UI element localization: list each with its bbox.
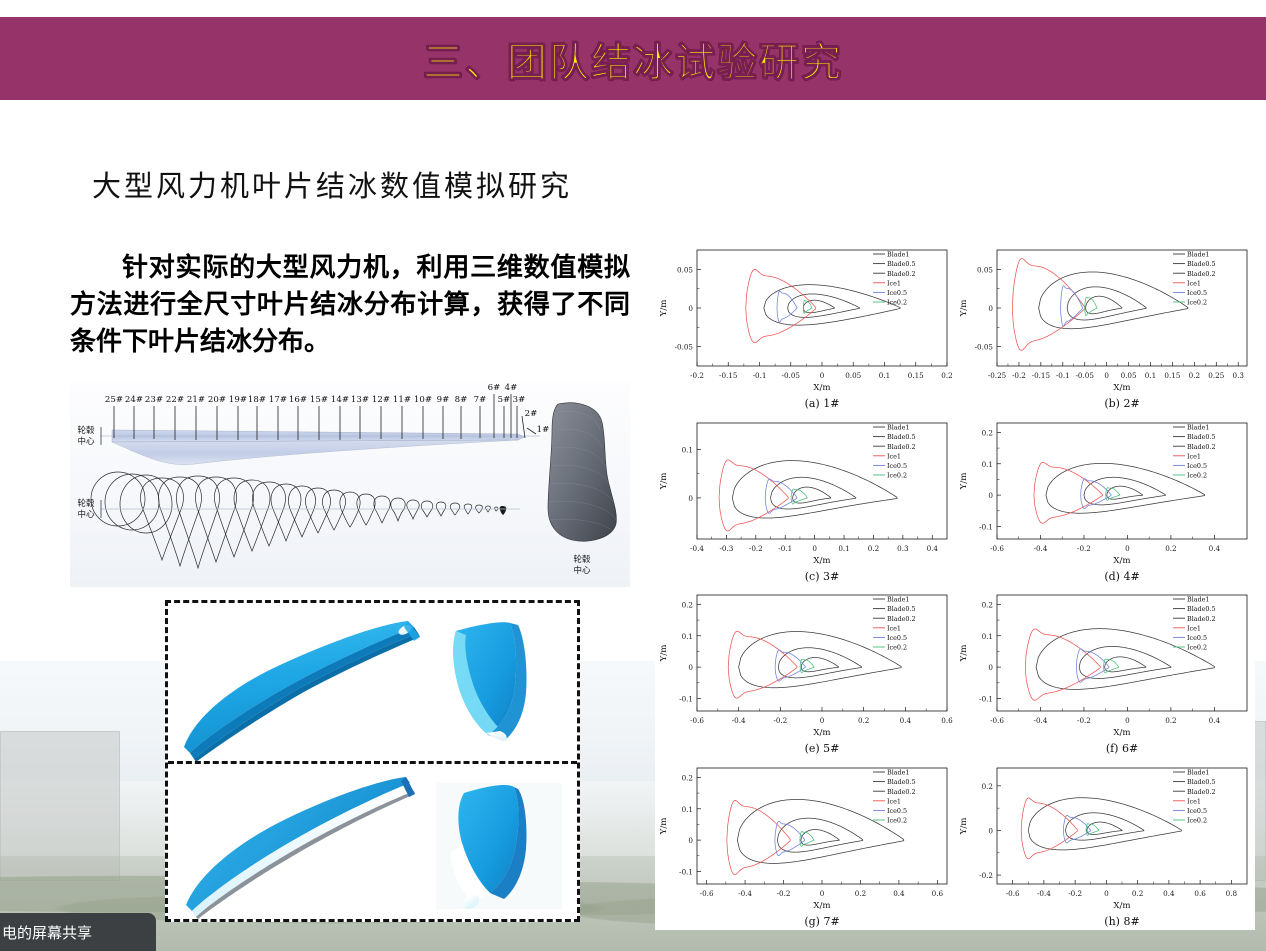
x-axis-label: X/m <box>813 728 830 738</box>
x-tick-label: -0.6 <box>700 889 714 898</box>
y-tick-label: -0.2 <box>979 871 993 880</box>
legend-label-Ice1: Ice1 <box>887 624 901 632</box>
y-tick-label: 0 <box>988 304 993 313</box>
legend-label-Blade1: Blade1 <box>887 768 910 776</box>
svg-text:8#: 8# <box>455 395 468 405</box>
legend-label-Blade1: Blade1 <box>887 596 910 604</box>
legend-label-Blade0.2: Blade0.2 <box>887 270 916 278</box>
x-tick-label: 0 <box>1104 371 1109 380</box>
legend-label-Ice0.2: Ice0.2 <box>1187 299 1207 307</box>
svg-text:中心: 中心 <box>77 509 95 520</box>
slide-title-banner: 三、团队结冰试验研究 <box>0 17 1266 100</box>
hub-3d-render <box>548 403 616 541</box>
y-tick-label: 0.2 <box>682 773 693 782</box>
chart-c: -0.4-0.3-0.2-0.100.10.20.30.400.1X/mY/m(… <box>655 413 955 586</box>
chart-svg-a: -0.2-0.15-0.1-0.0500.050.10.150.2-0.0500… <box>655 240 955 412</box>
y-tick-label: 0.1 <box>682 632 693 641</box>
body-paragraph: 针对实际的大型风力机，利用三维数值模拟方法进行全尺寸叶片结冰分布计算，获得了不同… <box>70 250 630 361</box>
legend-label-Blade1: Blade1 <box>1187 423 1210 431</box>
screen-share-indicator[interactable]: 电的屏幕共享 <box>0 913 156 951</box>
legend-label-Ice0.5: Ice0.5 <box>1187 634 1207 642</box>
y-tick-label: 0 <box>688 663 693 672</box>
y-axis-label: Y/m <box>959 472 969 490</box>
chart-d: -0.6-0.4-0.200.20.4-0.100.10.2X/mY/m(d) … <box>955 413 1255 586</box>
legend-label-Blade1: Blade1 <box>887 423 910 431</box>
legend-label-Blade0.2: Blade0.2 <box>887 787 916 795</box>
x-tick-label: 0.4 <box>1209 716 1221 725</box>
chart-caption: (d) 4# <box>1104 570 1139 583</box>
chart-svg-h: -0.6-0.4-0.200.20.40.60.8-0.200.2X/mY/m(… <box>955 758 1255 930</box>
y-axis-label: Y/m <box>959 817 969 835</box>
chart-caption: (g) 7# <box>804 915 839 928</box>
x-tick-label: 0.6 <box>941 716 953 725</box>
svg-text:19#: 19# <box>229 395 247 405</box>
legend-label-Ice0.2: Ice0.2 <box>887 816 907 824</box>
hub-center-label-top: 轮毂 中心 <box>77 425 95 447</box>
chart-caption: (f) 6# <box>1106 742 1138 755</box>
x-tick-label: 0.1 <box>879 371 890 380</box>
x-tick-label: 0.4 <box>1163 889 1175 898</box>
x-tick-label: -0.4 <box>1034 544 1048 553</box>
x-tick-label: 0.2 <box>868 544 879 553</box>
x-tick-label: -0.25 <box>988 371 1007 380</box>
legend-label-Ice1: Ice1 <box>1187 452 1201 460</box>
x-tick-label: 0.4 <box>927 544 939 553</box>
y-axis-label: Y/m <box>959 645 969 663</box>
y-tick-label: 0.2 <box>982 600 993 609</box>
chart-caption: (e) 5# <box>805 742 840 755</box>
y-axis-label: Y/m <box>659 817 669 835</box>
x-tick-label: -0.05 <box>1076 371 1095 380</box>
x-tick-label: 0.4 <box>900 716 912 725</box>
x-tick-label: 0.3 <box>897 544 909 553</box>
svg-text:1#: 1# <box>537 425 550 435</box>
x-tick-label: 0.1 <box>838 544 849 553</box>
legend-label-Ice1: Ice1 <box>1187 797 1201 805</box>
y-axis-label: Y/m <box>659 645 669 663</box>
svg-text:25#: 25# <box>105 395 123 405</box>
x-tick-label: -0.15 <box>719 371 738 380</box>
legend-label-Blade0.5: Blade0.5 <box>1187 433 1216 441</box>
chart-caption: (c) 3# <box>805 570 839 583</box>
y-tick-label: 0.2 <box>682 600 693 609</box>
y-tick-label: 0 <box>688 493 693 502</box>
chart-svg-c: -0.4-0.3-0.2-0.100.10.20.30.400.1X/mY/m(… <box>655 413 955 585</box>
legend-label-Blade0.2: Blade0.2 <box>887 615 916 623</box>
x-tick-label: -0.2 <box>1077 716 1091 725</box>
x-tick-label: -0.4 <box>1034 716 1048 725</box>
iced-blade-render-panel <box>165 600 580 922</box>
x-tick-label: -0.4 <box>690 544 704 553</box>
legend-label-Ice0.2: Ice0.2 <box>887 471 907 479</box>
y-tick-label: 0.2 <box>982 781 993 790</box>
chart-h: -0.6-0.4-0.200.20.40.60.8-0.200.2X/mY/m(… <box>955 758 1255 931</box>
legend-label-Blade0.2: Blade0.2 <box>1187 442 1216 450</box>
x-tick-label: 0 <box>820 889 825 898</box>
x-tick-label: 0.15 <box>908 371 924 380</box>
svg-text:22#: 22# <box>166 395 184 405</box>
legend-label-Blade1: Blade1 <box>887 251 910 259</box>
legend-label-Ice0.2: Ice0.2 <box>1187 644 1207 652</box>
x-tick-label: -0.6 <box>990 544 1004 553</box>
svg-text:17#: 17# <box>269 395 287 405</box>
legend-label-Blade0.5: Blade0.5 <box>887 778 916 786</box>
blade-render-top-left <box>184 621 420 762</box>
x-tick-label: -0.1 <box>753 371 767 380</box>
x-axis-label: X/m <box>813 901 830 911</box>
legend-label-Blade1: Blade1 <box>1187 251 1210 259</box>
icing-distribution-chart-grid: -0.2-0.15-0.1-0.0500.050.10.150.2-0.0500… <box>655 240 1255 930</box>
legend-label-Ice1: Ice1 <box>887 452 901 460</box>
chart-f: -0.6-0.4-0.200.20.4-0.100.10.2X/mY/m(f) … <box>955 585 1255 758</box>
x-tick-label: 0.4 <box>893 889 905 898</box>
x-tick-label: 0 <box>812 544 817 553</box>
y-tick-label: 0 <box>988 663 993 672</box>
x-tick-label: -0.6 <box>1006 889 1020 898</box>
legend-label-Blade0.2: Blade0.2 <box>1187 787 1216 795</box>
y-tick-label: -0.05 <box>975 343 994 352</box>
chart-e: -0.6-0.4-0.200.20.40.6-0.100.10.2X/mY/m(… <box>655 585 955 758</box>
svg-text:轮毂: 轮毂 <box>77 425 95 436</box>
legend-label-Ice0.5: Ice0.5 <box>1187 807 1207 815</box>
y-axis-label: Y/m <box>659 472 669 490</box>
legend-label-Ice0.2: Ice0.2 <box>1187 816 1207 824</box>
y-tick-label: 0 <box>688 304 693 313</box>
y-tick-label: 0.2 <box>982 428 993 437</box>
legend-label-Ice0.5: Ice0.5 <box>887 289 907 297</box>
y-tick-label: -0.05 <box>675 343 694 352</box>
x-tick-label: -0.6 <box>690 716 704 725</box>
svg-text:23#: 23# <box>145 395 163 405</box>
x-tick-label: 0.2 <box>855 889 866 898</box>
svg-text:13#: 13# <box>351 395 369 405</box>
x-tick-label: -0.1 <box>778 544 792 553</box>
svg-text:21#: 21# <box>187 395 205 405</box>
page-title: 三、团队结冰试验研究 <box>423 30 843 88</box>
legend-label-Blade0.5: Blade0.5 <box>1187 605 1216 613</box>
legend-label-Blade0.5: Blade0.5 <box>1187 260 1216 268</box>
svg-text:2#: 2# <box>525 409 538 419</box>
svg-text:9#: 9# <box>437 395 450 405</box>
y-tick-label: 0 <box>688 836 693 845</box>
x-tick-label: 0.6 <box>932 889 944 898</box>
hub-center-label-right: 轮毂 中心 <box>573 554 591 576</box>
x-tick-label: 0 <box>820 716 825 725</box>
x-tick-label: -0.2 <box>777 889 791 898</box>
x-axis-label: X/m <box>813 383 830 393</box>
x-tick-label: -0.4 <box>1037 889 1051 898</box>
chart-svg-d: -0.6-0.4-0.200.20.4-0.100.10.2X/mY/m(d) … <box>955 413 1255 585</box>
legend-label-Ice1: Ice1 <box>887 279 901 287</box>
svg-text:3#: 3# <box>513 395 526 405</box>
x-tick-label: -0.6 <box>990 716 1004 725</box>
legend-label-Blade1: Blade1 <box>1187 768 1210 776</box>
legend-label-Ice0.5: Ice0.5 <box>887 807 907 815</box>
svg-text:16#: 16# <box>289 395 307 405</box>
x-tick-label: 0 <box>1125 544 1130 553</box>
blade-render-top-right <box>453 622 526 741</box>
legend-label-Ice0.5: Ice0.5 <box>887 634 907 642</box>
y-tick-label: 0 <box>988 491 993 500</box>
legend-label-Blade0.2: Blade0.2 <box>887 442 916 450</box>
legend-label-Ice1: Ice1 <box>1187 624 1201 632</box>
y-tick-label: 0.1 <box>982 459 993 468</box>
y-tick-label: -0.1 <box>679 867 693 876</box>
y-tick-label: -0.1 <box>979 522 993 531</box>
section-subtitle: 大型风力机叶片结冰数值模拟研究 <box>92 163 572 205</box>
y-tick-label: 0.1 <box>682 445 693 454</box>
x-tick-label: -0.2 <box>773 716 787 725</box>
x-tick-label: 0.4 <box>1209 544 1221 553</box>
x-tick-label: -0.15 <box>1032 371 1051 380</box>
chart-g: -0.6-0.4-0.200.20.40.6-0.100.10.2X/mY/m(… <box>655 758 955 931</box>
x-tick-label: 0 <box>1125 716 1130 725</box>
x-tick-label: -0.2 <box>690 371 704 380</box>
svg-text:24#: 24# <box>125 395 143 405</box>
x-tick-label: 0 <box>1104 889 1109 898</box>
x-tick-label: -0.2 <box>749 544 763 553</box>
x-tick-label: 0 <box>820 371 825 380</box>
legend-label-Blade0.2: Blade0.2 <box>1187 615 1216 623</box>
x-tick-label: 0.3 <box>1233 371 1245 380</box>
presentation-slide: 三、团队结冰试验研究 大型风力机叶片结冰数值模拟研究 针对实际的大型风力机，利用… <box>0 0 1266 951</box>
y-tick-label: -0.1 <box>979 694 993 703</box>
legend-label-Ice0.2: Ice0.2 <box>887 644 907 652</box>
panel-divider <box>168 761 577 764</box>
chart-caption: (h) 8# <box>1104 915 1139 928</box>
legend-label-Ice1: Ice1 <box>1187 279 1201 287</box>
y-tick-label: -0.1 <box>679 694 693 703</box>
svg-text:10#: 10# <box>414 395 432 405</box>
x-axis-label: X/m <box>1113 383 1130 393</box>
x-tick-label: 0.2 <box>1165 544 1176 553</box>
x-tick-label: 0.1 <box>1145 371 1156 380</box>
y-tick-label: 0 <box>988 826 993 835</box>
svg-text:12#: 12# <box>372 395 390 405</box>
legend-label-Blade0.2: Blade0.2 <box>1187 270 1216 278</box>
chart-svg-g: -0.6-0.4-0.200.20.40.6-0.100.10.2X/mY/m(… <box>655 758 955 930</box>
hub-center-label-mid: 轮毂 中心 <box>77 498 95 520</box>
svg-text:轮毂: 轮毂 <box>77 498 95 509</box>
legend-label-Ice0.5: Ice0.5 <box>1187 462 1207 470</box>
svg-text:5#: 5# <box>498 395 511 405</box>
x-tick-label: 0.05 <box>845 371 861 380</box>
y-tick-label: 0.1 <box>982 632 993 641</box>
legend-label-Ice0.5: Ice0.5 <box>887 462 907 470</box>
chart-svg-e: -0.6-0.4-0.200.20.40.6-0.100.10.2X/mY/m(… <box>655 585 955 757</box>
background-building-left <box>0 731 120 881</box>
x-tick-label: -0.2 <box>1012 371 1026 380</box>
x-tick-label: 0.8 <box>1226 889 1238 898</box>
x-tick-label: -0.05 <box>782 371 801 380</box>
chart-b: -0.25-0.2-0.15-0.1-0.0500.050.10.150.20.… <box>955 240 1255 413</box>
legend-label-Blade0.5: Blade0.5 <box>1187 778 1216 786</box>
y-tick-label: 0.05 <box>677 265 693 274</box>
x-tick-label: -0.2 <box>1068 889 1082 898</box>
station-labels: 25# 24# 23# 22# 21# 20# 19# 18# 17# 16# … <box>105 383 549 435</box>
x-tick-label: 0.2 <box>1132 889 1143 898</box>
x-tick-label: 0.25 <box>1208 371 1224 380</box>
x-tick-label: 0.15 <box>1164 371 1180 380</box>
x-tick-label: 0.2 <box>1189 371 1200 380</box>
blade-render-bottom-right <box>436 783 562 912</box>
svg-text:18#: 18# <box>248 395 266 405</box>
x-axis-label: X/m <box>1113 901 1130 911</box>
x-tick-label: 0.6 <box>1194 889 1206 898</box>
svg-text:轮毂: 轮毂 <box>573 554 591 565</box>
x-axis-label: X/m <box>813 556 830 566</box>
airfoil-section-stack <box>91 472 498 568</box>
legend-label-Ice1: Ice1 <box>887 797 901 805</box>
legend-label-Ice0.2: Ice0.2 <box>887 299 907 307</box>
x-tick-label: 0.2 <box>858 716 869 725</box>
svg-text:15#: 15# <box>310 395 328 405</box>
y-tick-label: 0.05 <box>977 265 993 274</box>
legend-label-Blade0.5: Blade0.5 <box>887 260 916 268</box>
chart-caption: (b) 2# <box>1104 397 1139 410</box>
x-tick-label: 0.2 <box>1165 716 1176 725</box>
legend-label-Ice0.5: Ice0.5 <box>1187 289 1207 297</box>
x-axis-label: X/m <box>1113 556 1130 566</box>
x-tick-label: -0.1 <box>1056 371 1070 380</box>
legend-label-Blade1: Blade1 <box>1187 596 1210 604</box>
y-axis-label: Y/m <box>959 300 969 318</box>
x-tick-label: -0.4 <box>732 716 746 725</box>
legend-label-Blade0.5: Blade0.5 <box>887 433 916 441</box>
y-axis-label: Y/m <box>659 300 669 318</box>
x-tick-label: 0.05 <box>1121 371 1137 380</box>
screen-share-label: 电的屏幕共享 <box>2 922 92 943</box>
chart-caption: (a) 1# <box>805 397 840 410</box>
svg-text:6#: 6# <box>488 383 501 393</box>
x-axis-label: X/m <box>1113 728 1130 738</box>
blade-diagram-svg: 25# 24# 23# 22# 21# 20# 19# 18# 17# 16# … <box>70 382 630 587</box>
blade-render-bottom-left <box>186 777 415 919</box>
legend-label-Ice0.2: Ice0.2 <box>1187 471 1207 479</box>
svg-text:中心: 中心 <box>573 565 591 576</box>
chart-svg-b: -0.25-0.2-0.15-0.1-0.0500.050.10.150.20.… <box>955 240 1255 412</box>
legend-label-Blade0.5: Blade0.5 <box>887 605 916 613</box>
svg-text:中心: 中心 <box>77 436 95 447</box>
x-tick-label: -0.4 <box>738 889 752 898</box>
svg-text:11#: 11# <box>393 395 411 405</box>
svg-text:4#: 4# <box>505 383 518 393</box>
x-tick-label: 0.2 <box>941 371 952 380</box>
svg-text:7#: 7# <box>474 395 487 405</box>
blade-station-diagram: 25# 24# 23# 22# 21# 20# 19# 18# 17# 16# … <box>70 382 630 587</box>
x-tick-label: -0.3 <box>719 544 733 553</box>
chart-svg-f: -0.6-0.4-0.200.20.4-0.100.10.2X/mY/m(f) … <box>955 585 1255 757</box>
y-tick-label: 0.1 <box>682 804 693 813</box>
x-tick-label: -0.2 <box>1077 544 1091 553</box>
svg-text:20#: 20# <box>208 395 226 405</box>
chart-a: -0.2-0.15-0.1-0.0500.050.10.150.2-0.0500… <box>655 240 955 413</box>
svg-text:14#: 14# <box>331 395 349 405</box>
